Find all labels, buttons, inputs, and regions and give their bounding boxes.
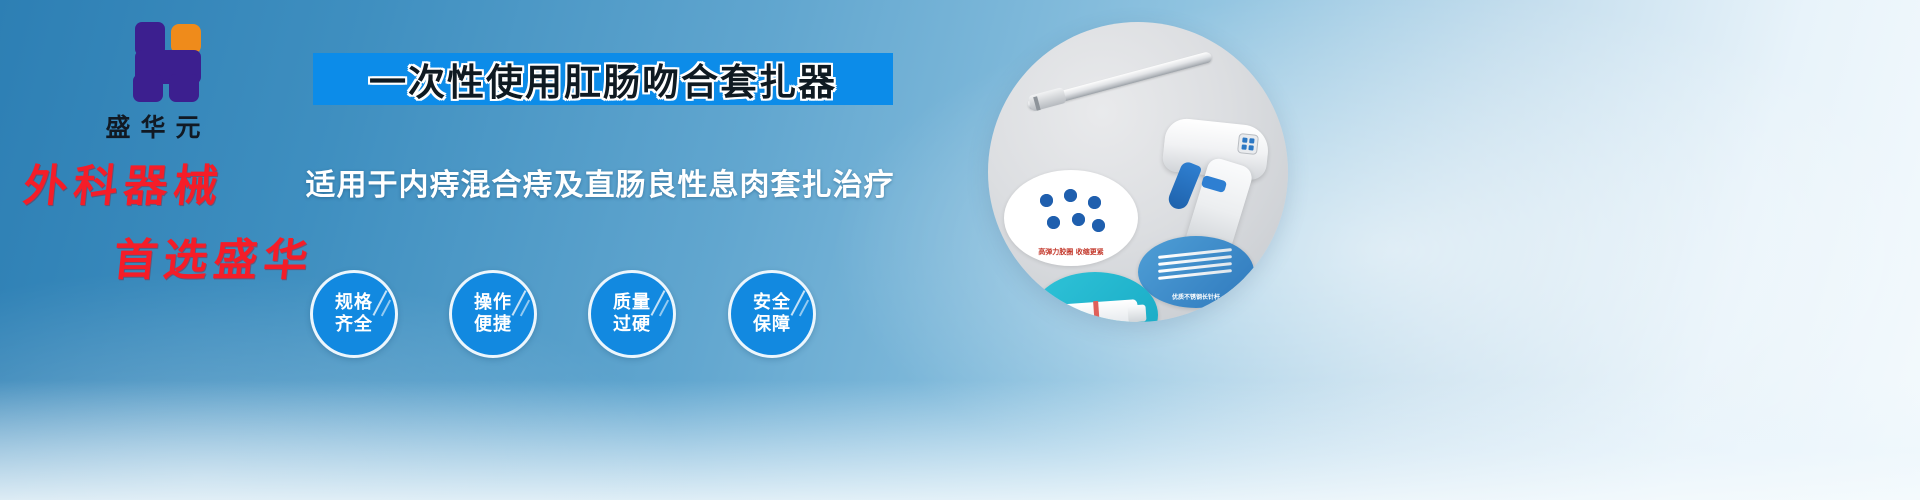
inset-bands-caption: 高弹力胶圈 收缩更紧 (1004, 247, 1138, 257)
feature-badge-1[interactable]: 操作 便捷 (449, 270, 537, 358)
slash-accent-icon (373, 290, 388, 316)
feature-badge-1-line-2: 便捷 (474, 314, 512, 336)
slash-accent-icon (520, 300, 530, 317)
slash-accent-icon (381, 300, 391, 317)
brand-logo[interactable]: 盛华元 (58, 22, 248, 144)
background-bottom-fade (0, 380, 1920, 500)
feature-badge-2-line-2: 过硬 (613, 314, 651, 336)
feature-badge-0-line-2: 齐全 (335, 314, 373, 336)
inset-needles: 优质不锈钢长针杆 (1138, 236, 1254, 308)
inset-needles-caption: 优质不锈钢长针杆 (1138, 292, 1254, 301)
feature-badge-group: 规格 齐全 操作 便捷 质量 过硬 安全 保障 (310, 270, 850, 380)
feature-badge-3[interactable]: 安全 保障 (728, 270, 816, 358)
slash-accent-icon (791, 290, 806, 316)
feature-badge-0[interactable]: 规格 齐全 (310, 270, 398, 358)
feature-badge-3-line-2: 保障 (753, 314, 791, 336)
feature-badge-1-line-1: 操作 (474, 292, 512, 314)
page-title: 一次性使用肛肠吻合套扎器 (313, 50, 893, 108)
slash-accent-icon (651, 290, 666, 316)
slash-accent-icon (512, 290, 527, 316)
product-photo[interactable]: 高弹力胶圈 收缩更紧 优质不锈钢长针杆 (988, 22, 1288, 322)
brush-slogan: 外科器械 首选盛华 (18, 150, 348, 288)
inset-rubber-bands: 高弹力胶圈 收缩更紧 (1004, 170, 1138, 266)
logo-mark-icon (109, 22, 197, 104)
feature-badge-2[interactable]: 质量 过硬 (588, 270, 676, 358)
stapler-control-pad-icon (1237, 133, 1259, 155)
brand-name: 盛华元 (58, 108, 248, 144)
feature-badge-0-line-1: 规格 (335, 292, 373, 314)
page-subtitle: 适用于内痔混合痔及直肠良性息肉套扎治疗 (300, 160, 900, 204)
feature-badge-3-line-1: 安全 (753, 292, 791, 314)
feature-badge-2-line-1: 质量 (613, 292, 651, 314)
slash-accent-icon (659, 300, 669, 317)
slash-accent-icon (799, 300, 809, 317)
